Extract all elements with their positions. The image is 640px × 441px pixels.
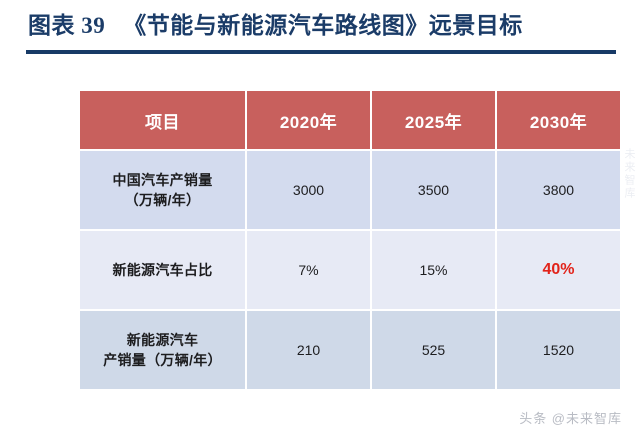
figure-label: 图表 39 <box>28 13 123 38</box>
cell-value-highlighted: 40% <box>497 231 620 309</box>
cell-value: 3500 <box>372 151 495 229</box>
table-header-row: 项目 2020年 2025年 2030年 <box>80 91 620 149</box>
table-row: 新能源汽车占比 7% 15% 40% <box>80 231 620 309</box>
row-label-line-2: （万辆/年） <box>81 190 244 210</box>
column-header-item: 项目 <box>80 91 245 149</box>
row-label-vehicle-output: 中国汽车产销量 （万辆/年） <box>80 151 245 229</box>
bottom-watermark: 头条 @未来智库 <box>519 408 622 427</box>
figure-title-text: 《节能与新能源汽车路线图》远景目标 <box>123 13 523 38</box>
column-header-2020: 2020年 <box>247 91 370 149</box>
cell-value: 1520 <box>497 311 620 389</box>
roadmap-table-wrapper: 项目 2020年 2025年 2030年 中国汽车产销量 （万辆/年） 3000… <box>78 89 613 391</box>
cell-value: 15% <box>372 231 495 309</box>
cell-value: 7% <box>247 231 370 309</box>
figure-number: 39 <box>81 13 105 38</box>
cell-value: 210 <box>247 311 370 389</box>
table-row: 中国汽车产销量 （万辆/年） 3000 3500 3800 <box>80 151 620 229</box>
roadmap-table: 项目 2020年 2025年 2030年 中国汽车产销量 （万辆/年） 3000… <box>78 89 622 391</box>
figure-title-block: 图表 39《节能与新能源汽车路线图》远景目标 <box>0 0 640 56</box>
page-title: 图表 39《节能与新能源汽车路线图》远景目标 <box>28 6 523 40</box>
title-divider <box>26 50 616 54</box>
row-label-line-1: 新能源汽车占比 <box>81 260 244 280</box>
cell-value: 3800 <box>497 151 620 229</box>
row-label-line-1: 新能源汽车 <box>81 330 244 350</box>
table-row: 新能源汽车 产销量（万辆/年） 210 525 1520 <box>80 311 620 389</box>
column-header-2030: 2030年 <box>497 91 620 149</box>
row-label-line-2: 产销量（万辆/年） <box>81 350 244 370</box>
column-header-2025: 2025年 <box>372 91 495 149</box>
row-label-line-1: 中国汽车产销量 <box>81 170 244 190</box>
row-label-nev-output: 新能源汽车 产销量（万辆/年） <box>80 311 245 389</box>
figure-label-text: 图表 <box>28 13 75 38</box>
row-label-nev-share: 新能源汽车占比 <box>80 231 245 309</box>
cell-value: 525 <box>372 311 495 389</box>
cell-value: 3000 <box>247 151 370 229</box>
side-watermark: 未来智库 <box>621 148 637 200</box>
